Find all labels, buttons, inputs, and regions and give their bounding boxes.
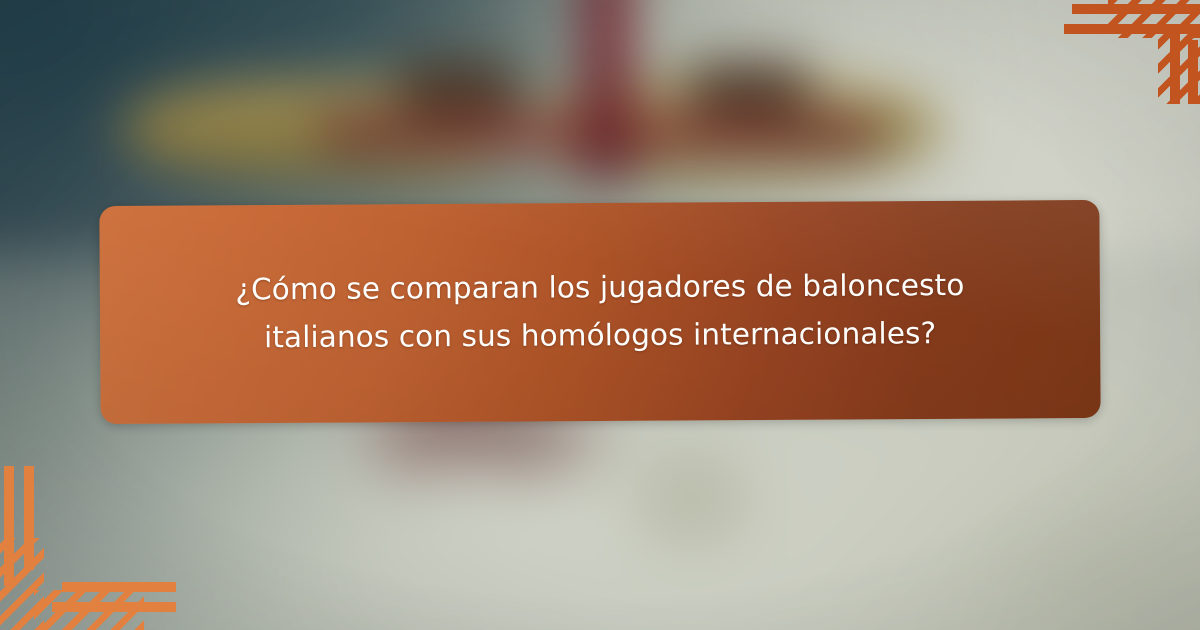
headline-text: ¿Cómo se comparan los jugadores de balon… — [148, 261, 1053, 362]
headline-banner: ¿Cómo se comparan los jugadores de balon… — [99, 200, 1100, 424]
social-card: ¿Cómo se comparan los jugadores de balon… — [0, 0, 1200, 630]
